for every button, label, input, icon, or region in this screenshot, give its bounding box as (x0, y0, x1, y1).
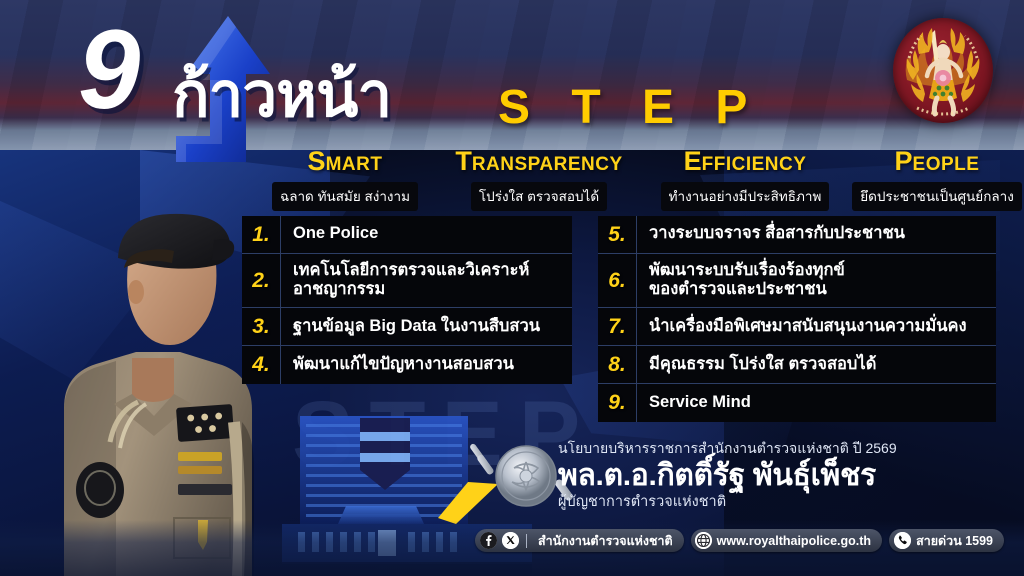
list-item-number: 7. (598, 315, 636, 339)
list-item-line: ของตำรวจและประชาชน (649, 280, 845, 299)
acronym-efficiency: EFFICIENCY ทำงานอย่างมีประสิทธิภาพ (642, 148, 848, 211)
list-item-line: พัฒนาระบบรับเรื่องร้องทุกข์ (649, 261, 845, 280)
list-item-line: เทคโนโลยีการตรวจและวิเคราะห์ (293, 261, 529, 280)
list-item-line: พัฒนาแก้ไขปัญหางานสอบสวน (293, 355, 514, 374)
acronym-rest: EOPLE (913, 154, 980, 175)
footer-divider (526, 534, 527, 548)
list-item-text: ฐานข้อมูล Big Data ในงานสืบสวน (280, 308, 572, 345)
acronym-subtitle: ยึดประชาชนเป็นศูนย์กลาง (852, 182, 1022, 211)
list-item-line: มีคุณธรรม โปร่งใส ตรวจสอบได้ (649, 355, 876, 374)
step-acronym-row: SMART ฉลาด ทันสมัย สง่างาม TRANSPARENCY … (252, 148, 994, 206)
list-item-text: นำเครื่องมือพิเศษมาสนับสนุนงานความมั่นคง (636, 308, 996, 345)
list-item-line: นำเครื่องมือพิเศษมาสนับสนุนงานความมั่นคง (649, 317, 967, 336)
title-number: 9 (78, 14, 140, 126)
list-item-number: 3. (242, 315, 280, 339)
social-pill[interactable]: สำนักงานตำรวจแห่งชาติ (475, 529, 684, 552)
acronym-subtitle: ฉลาด ทันสมัย สง่างาม (272, 182, 418, 211)
website-pill[interactable]: www.royalthaipolice.go.th (691, 529, 882, 552)
list-item: 6. พัฒนาระบบรับเรื่องร้องทุกข์ ของตำรวจแ… (598, 254, 996, 308)
commissioner-name: พล.ต.อ.กิตติ์รัฐ พันธุ์เพ็ชร (558, 458, 1008, 493)
phone-icon[interactable] (894, 532, 911, 549)
list-item-line: Service Mind (649, 393, 751, 412)
acronym-smart: SMART ฉลาด ทันสมัย สง่างาม (252, 148, 438, 211)
social-label: สำนักงานตำรวจแห่งชาติ (538, 531, 673, 551)
list-item: 5. วางระบบจราจร สื่อสารกับประชาชน (598, 216, 996, 254)
acronym-rest: RANSPARENCY (472, 154, 623, 175)
list-item-number: 5. (598, 223, 636, 247)
list-item-text: มีคุณธรรม โปร่งใส ตรวจสอบได้ (636, 346, 996, 383)
hotline-number: สายด่วน 1599 (916, 531, 993, 551)
acronym-capital: S (308, 146, 326, 176)
facebook-icon[interactable] (480, 532, 497, 549)
list-item-line: ฐานข้อมูล Big Data ในงานสืบสวน (293, 317, 540, 336)
list-item-text: One Police (280, 216, 572, 253)
list-item-number: 2. (242, 269, 280, 293)
list-item-number: 9. (598, 391, 636, 415)
x-twitter-icon[interactable] (502, 532, 519, 549)
list-item-text: เทคโนโลยีการตรวจและวิเคราะห์ อาชญากรรม (280, 254, 572, 307)
infographic-poster: STEP (0, 0, 1024, 576)
policy-list-right: 5. วางระบบจราจร สื่อสารกับประชาชน 6. พัฒ… (598, 216, 996, 422)
signature-block: นโยบายบริหารราชการสำนักงานตำรวจแห่งชาติ … (558, 440, 1008, 512)
acronym-people: PEOPLE ยึดประชาชนเป็นศูนย์กลาง (844, 148, 1024, 211)
website-url[interactable]: www.royalthaipolice.go.th (717, 534, 871, 548)
list-item: 1. One Police (242, 216, 572, 254)
acronym-transparency: TRANSPARENCY โปร่งใส ตรวจสอบได้ (434, 148, 644, 211)
list-item-number: 4. (242, 353, 280, 377)
acronym-rest: MART (326, 154, 383, 175)
acronym-capital: E (684, 146, 702, 176)
royal-thai-police-emblem (893, 18, 993, 123)
acronym-capital: T (455, 146, 472, 176)
list-item: 3. ฐานข้อมูล Big Data ในงานสืบสวน (242, 308, 572, 346)
footer-contact-bar: สำนักงานตำรวจแห่งชาติ www.royalthaipolic… (475, 529, 1004, 552)
list-item-text: พัฒนาแก้ไขปัญหางานสอบสวน (280, 346, 572, 384)
list-item: 4. พัฒนาแก้ไขปัญหางานสอบสวน (242, 346, 572, 384)
list-item-number: 6. (598, 269, 636, 293)
acronym-subtitle: โปร่งใส ตรวจสอบได้ (471, 182, 607, 211)
list-item: 7. นำเครื่องมือพิเศษมาสนับสนุนงานความมั่… (598, 308, 996, 346)
globe-icon[interactable] (695, 532, 712, 549)
list-item-text: Service Mind (636, 384, 996, 422)
hotline-pill[interactable]: สายด่วน 1599 (889, 529, 1004, 552)
acronym-rest: FFICIENCY (702, 154, 807, 175)
acronym-subtitle: ทำงานอย่างมีประสิทธิภาพ (661, 182, 830, 211)
list-item: 9. Service Mind (598, 384, 996, 422)
list-item-number: 1. (242, 223, 280, 247)
list-item-line: One Police (293, 224, 378, 243)
list-item-text: วางระบบจราจร สื่อสารกับประชาชน (636, 216, 996, 253)
list-item: 2. เทคโนโลยีการตรวจและวิเคราะห์ อาชญากรร… (242, 254, 572, 308)
list-item-line: วางระบบจราจร สื่อสารกับประชาชน (649, 224, 905, 243)
acronym-capital: P (895, 146, 913, 176)
list-item: 8. มีคุณธรรม โปร่งใส ตรวจสอบได้ (598, 346, 996, 384)
list-item-line: อาชญากรรม (293, 280, 529, 299)
title-thai-word: ก้าวหน้า (172, 46, 391, 144)
list-item-text: พัฒนาระบบรับเรื่องร้องทุกข์ ของตำรวจและป… (636, 254, 996, 307)
police-officer-portrait (28, 172, 278, 576)
commissioner-rank: ผู้บัญชาการตำรวจแห่งชาติ (558, 494, 1008, 511)
policy-statement: นโยบายบริหารราชการสำนักงานตำรวจแห่งชาติ … (558, 440, 1008, 457)
policy-list-left: 1. One Police 2. เทคโนโลยีการตรวจและวิเค… (242, 216, 572, 384)
step-acronym-heading: S T E P (498, 80, 761, 135)
list-item-number: 8. (598, 353, 636, 377)
